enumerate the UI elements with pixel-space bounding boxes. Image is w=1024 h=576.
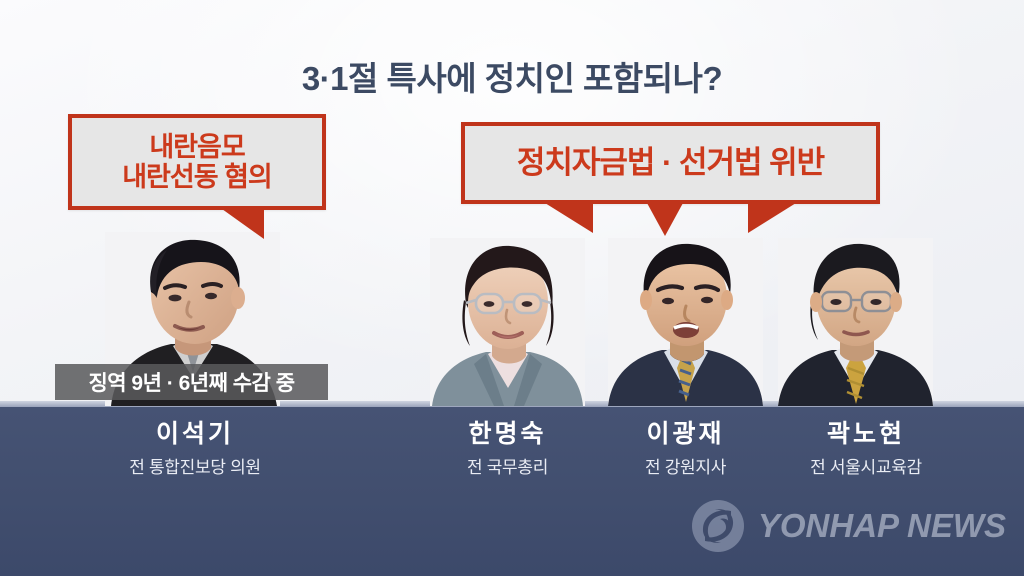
portrait-han-myeong-sook xyxy=(430,238,585,406)
yonhap-swirl-logo-icon xyxy=(690,498,746,554)
person-title-1: 전 통합진보당 의원 xyxy=(110,453,280,478)
person-name-1: 이석기 xyxy=(110,420,280,449)
person-title-4: 전 서울시교육감 xyxy=(776,453,956,478)
callout-left-line-1: 내란음모 xyxy=(149,132,244,162)
news-graphic-canvas: 3·1절 특사에 정치인 포함되나? 내란음모 내란선동 혐의 정치자금법 · … xyxy=(0,0,1024,576)
callout-right-tail-2-icon xyxy=(647,203,683,236)
sentence-status-strip: 징역 9년 · 6년째 수감 중 xyxy=(55,364,328,400)
callout-charges-left: 내란음모 내란선동 혐의 xyxy=(68,114,326,210)
person-name-2: 한명숙 xyxy=(420,420,595,449)
watermark-text: YONHAP NEWS xyxy=(758,507,1006,545)
portrait-lee-kwang-jae xyxy=(608,238,763,406)
callout-charges-right: 정치자금법 · 선거법 위반 xyxy=(461,122,880,204)
person-title-2: 전 국무총리 xyxy=(420,453,595,478)
callout-right-tail-3-icon xyxy=(748,203,796,233)
person-title-3: 전 강원지사 xyxy=(598,453,773,478)
person-label-1: 이석기 전 통합진보당 의원 xyxy=(110,420,280,478)
person-name-4: 곽노현 xyxy=(776,420,956,449)
callout-left-tail-icon xyxy=(222,209,264,239)
callout-right-tail-1-icon xyxy=(545,203,593,233)
watermark: YONHAP NEWS xyxy=(690,498,1006,554)
page-title: 3·1절 특사에 정치인 포함되나? xyxy=(0,52,1024,100)
person-label-2: 한명숙 전 국무총리 xyxy=(420,420,595,478)
callout-right-line-1: 정치자금법 · 선거법 위반 xyxy=(517,146,824,181)
callout-left-line-2: 내란선동 혐의 xyxy=(122,162,272,192)
person-label-3: 이광재 전 강원지사 xyxy=(598,420,773,478)
person-name-3: 이광재 xyxy=(598,420,773,449)
portrait-kwak-no-hyun xyxy=(778,238,933,406)
person-label-4: 곽노현 전 서울시교육감 xyxy=(776,420,956,478)
